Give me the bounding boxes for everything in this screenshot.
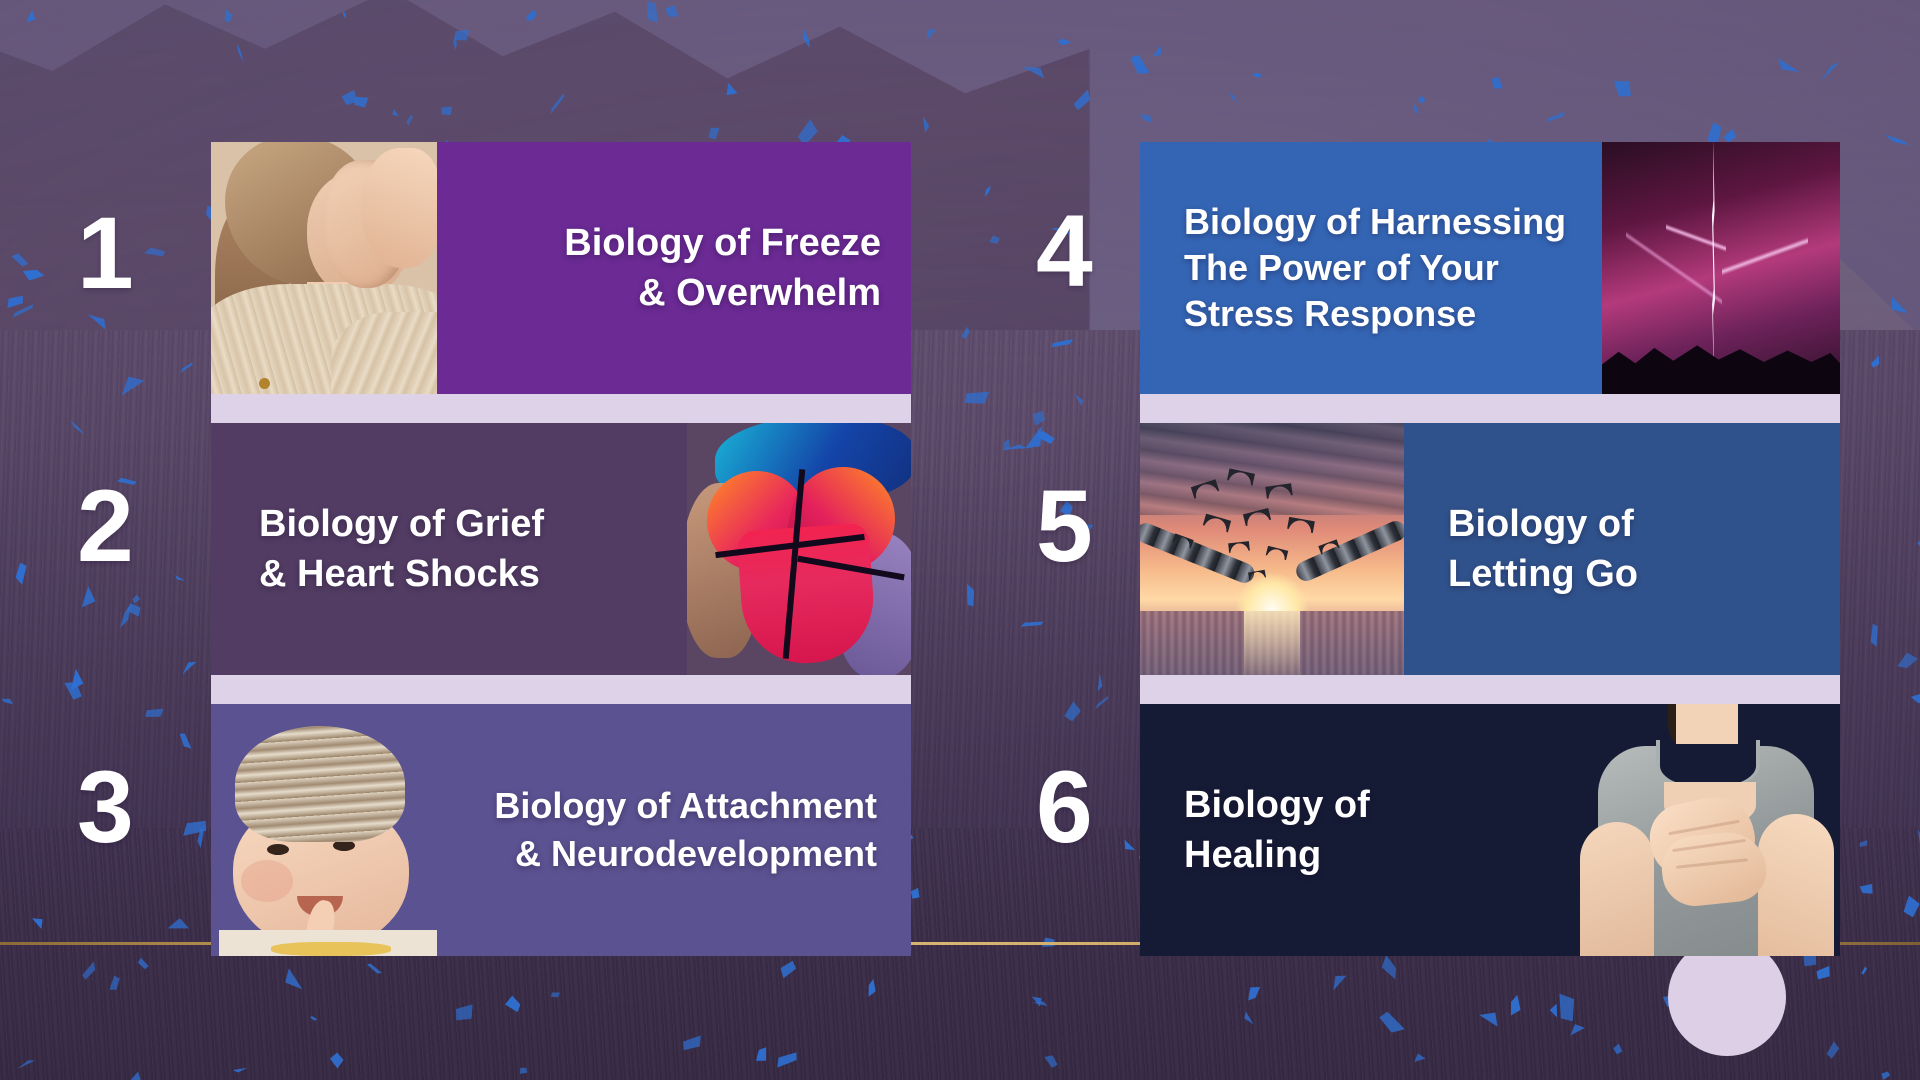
card-3-title-line-2: & Neurodevelopment xyxy=(447,830,877,878)
card-gap-bar-5 xyxy=(1140,675,1840,704)
card-number-3: 3 xyxy=(77,756,132,858)
module-card-3-title: Biology of Attachment & Neurodevelopment xyxy=(437,782,911,877)
module-card-4[interactable]: Biology of Harnessing The Power of Your … xyxy=(1140,142,1840,394)
card-number-5: 5 xyxy=(1036,475,1091,577)
module-card-2[interactable]: Biology of Grief & Heart Shocks xyxy=(211,423,911,675)
course-module-grid: 1 Biology of Freeze & Overwhelm 2 Biolog… xyxy=(0,0,1920,1080)
module-card-2-title: Biology of Grief & Heart Shocks xyxy=(211,499,687,599)
module-card-4-title: Biology of Harnessing The Power of Your … xyxy=(1140,199,1602,337)
lightning-storm-photo xyxy=(1602,142,1840,394)
module-card-5-title: Biology of Letting Go xyxy=(1404,499,1840,599)
card-1-title-line-1: Biology of Freeze xyxy=(447,218,881,268)
card-5-title-line-1: Biology of xyxy=(1448,499,1830,549)
module-card-5[interactable]: Biology of Letting Go xyxy=(1140,423,1840,675)
woman-hands-on-chest-photo xyxy=(1564,704,1840,956)
card-2-title-line-2: & Heart Shocks xyxy=(259,549,677,599)
card-number-6: 6 xyxy=(1036,756,1091,858)
module-card-1[interactable]: Biology of Freeze & Overwhelm xyxy=(211,142,911,394)
woman-head-in-hands-photo xyxy=(211,142,437,394)
card-1-title-line-2: & Overwhelm xyxy=(447,268,881,318)
card-4-title-line-1: Biology of Harnessing xyxy=(1184,199,1592,245)
baby-in-striped-hat-photo xyxy=(211,704,437,956)
card-4-title-line-2: The Power of Your xyxy=(1184,245,1592,291)
card-2-title-line-1: Biology of Grief xyxy=(259,499,677,549)
card-gap-bar-4 xyxy=(1140,394,1840,423)
module-card-6-title: Biology of Healing xyxy=(1140,780,1564,880)
broken-chain-birds-sunset-photo xyxy=(1140,423,1404,675)
module-card-1-title: Biology of Freeze & Overwhelm xyxy=(437,218,911,318)
card-6-title-line-2: Healing xyxy=(1184,830,1554,880)
card-4-title-line-3: Stress Response xyxy=(1184,291,1592,337)
card-5-title-line-2: Letting Go xyxy=(1448,549,1830,599)
module-card-3[interactable]: Biology of Attachment & Neurodevelopment xyxy=(211,704,911,956)
card-gap-bar-1 xyxy=(211,394,911,423)
card-6-title-line-1: Biology of xyxy=(1184,780,1554,830)
card-number-2: 2 xyxy=(77,475,132,577)
card-gap-bar-2 xyxy=(211,675,911,704)
card-number-1: 1 xyxy=(77,202,132,304)
module-card-6[interactable]: Biology of Healing xyxy=(1140,704,1840,956)
card-number-4: 4 xyxy=(1036,200,1091,302)
card-3-title-line-1: Biology of Attachment xyxy=(447,782,877,830)
painted-broken-heart-in-hands-photo xyxy=(687,423,911,675)
